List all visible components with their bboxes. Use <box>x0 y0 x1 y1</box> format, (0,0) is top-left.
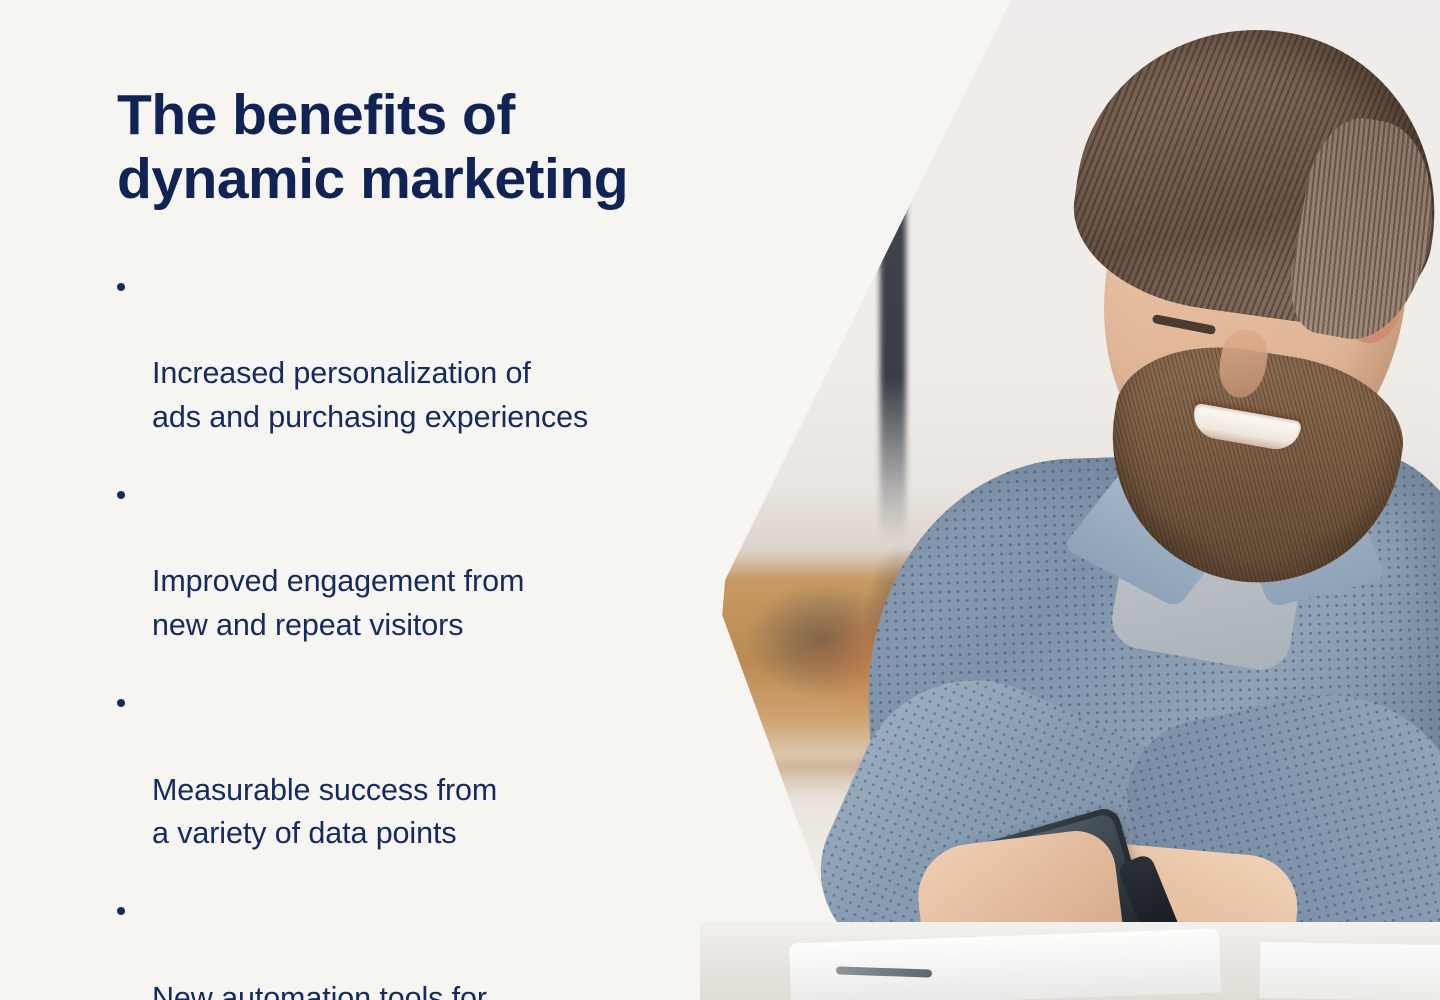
list-item-label: Improved engagement from new and repeat … <box>152 564 524 641</box>
bullet-dot-icon <box>117 491 125 499</box>
list-item: Improved engagement from new and repeat … <box>117 474 817 647</box>
bullet-dot-icon <box>117 699 125 707</box>
list-item-label: New automation tools for data and proces… <box>152 981 502 1000</box>
benefits-list: Increased personalization of ads and pur… <box>117 266 817 1000</box>
list-item: New automation tools for data and proces… <box>117 890 817 1000</box>
list-item: Measurable success from a variety of dat… <box>117 682 817 855</box>
slide-canvas: The benefits of dynamic marketing Increa… <box>0 0 1440 1000</box>
page-title: The benefits of dynamic marketing <box>117 84 817 212</box>
bullet-dot-icon <box>117 907 125 915</box>
paper-sheet <box>1260 942 1440 1000</box>
list-item: Increased personalization of ads and pur… <box>117 266 817 439</box>
list-item-label: Measurable success from a variety of dat… <box>152 773 497 850</box>
copy-column: The benefits of dynamic marketing Increa… <box>117 84 817 1000</box>
list-item-label: Increased personalization of ads and pur… <box>152 356 588 433</box>
bullet-dot-icon <box>117 283 125 291</box>
